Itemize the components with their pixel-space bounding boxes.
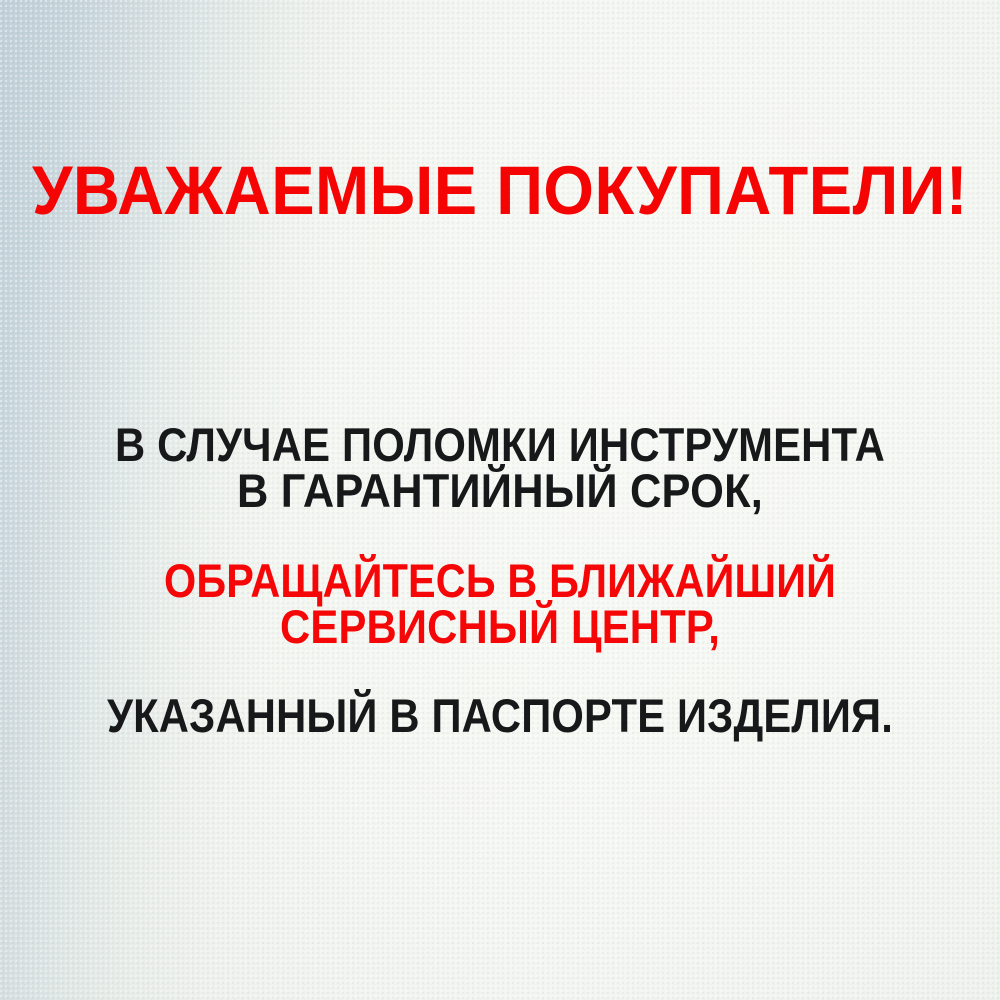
action-paragraph-line-1: ОБРАЩАЙТЕСЬ В БЛИЖАЙШИЙ	[60, 557, 940, 604]
notice-poster: УВАЖАЕМЫЕ ПОКУПАТЕЛИ! В СЛУЧАЕ ПОЛОМКИ И…	[0, 0, 1000, 1000]
condition-paragraph-line-2: В ГАРАНТИЙНЫЙ СРОК,	[38, 467, 962, 514]
poster-title: УВАЖАЕМЫЕ ПОКУПАТЕЛИ!	[29, 156, 971, 225]
condition-paragraph-line-1: В СЛУЧАЕ ПОЛОМКИ ИНСТРУМЕНТА	[55, 421, 945, 468]
poster-content: УВАЖАЕМЫЕ ПОКУПАТЕЛИ! В СЛУЧАЕ ПОЛОМКИ И…	[0, 0, 1000, 1000]
reference-paragraph-line-1: УКАЗАННЫЙ В ПАСПОРТЕ ИЗДЕЛИЯ.	[56, 692, 944, 739]
action-paragraph-line-2: СЕРВИСНЫЙ ЦЕНТР,	[55, 603, 945, 650]
